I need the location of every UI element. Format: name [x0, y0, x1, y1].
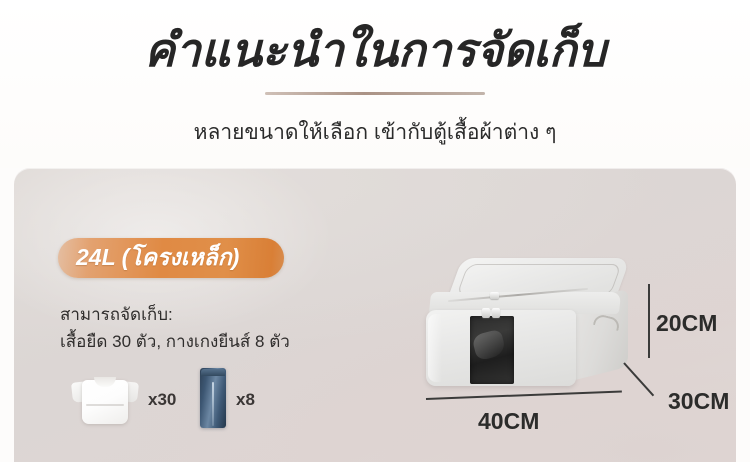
jeans-icon	[200, 368, 226, 428]
tshirt-count: x30	[148, 390, 176, 410]
header-section: คำแนะนำในการจัดเก็บ หลายขนาดให้เลือก เข้…	[0, 0, 750, 168]
storage-box-illustration	[418, 258, 648, 408]
infographic-page: คำแนะนำในการจัดเก็บ หลายขนาดให้เลือก เข้…	[0, 0, 750, 462]
tshirt-fold-line	[86, 404, 124, 406]
dimension-line-height	[648, 284, 650, 358]
jeans-waistband	[201, 369, 225, 376]
capacity-detail: เสื้อยืด 30 ตัว, กางเกงยีนส์ 8 ตัว	[60, 330, 290, 354]
capacity-badge: 24L (โครงเหล็ก)	[58, 238, 284, 278]
zipper-pull-top	[490, 292, 499, 299]
dimension-label-width: 40CM	[478, 408, 539, 435]
capacity-badge-label: 24L (โครงเหล็ก)	[58, 238, 284, 278]
page-subtitle: หลายขนาดให้เลือก เข้ากับตู้เสื้อผ้าต่าง …	[0, 118, 750, 148]
dimension-label-depth: 30CM	[668, 388, 729, 415]
dimension-line-width	[426, 390, 622, 400]
capacity-icon-row: x30 x8	[60, 368, 320, 430]
dimension-label-height: 20CM	[656, 310, 717, 337]
jeans-crease-line	[212, 382, 214, 426]
jeans-count: x8	[236, 390, 255, 410]
page-title: คำแนะนำในการจัดเก็บ	[0, 22, 750, 78]
zipper-pull-left	[482, 308, 490, 318]
tshirt-icon	[72, 370, 138, 426]
title-divider	[265, 92, 485, 95]
capacity-heading: สามารถจัดเก็บ:	[60, 303, 173, 327]
box-left-edge-highlight	[428, 314, 442, 382]
zipper-pull-right	[492, 308, 500, 318]
